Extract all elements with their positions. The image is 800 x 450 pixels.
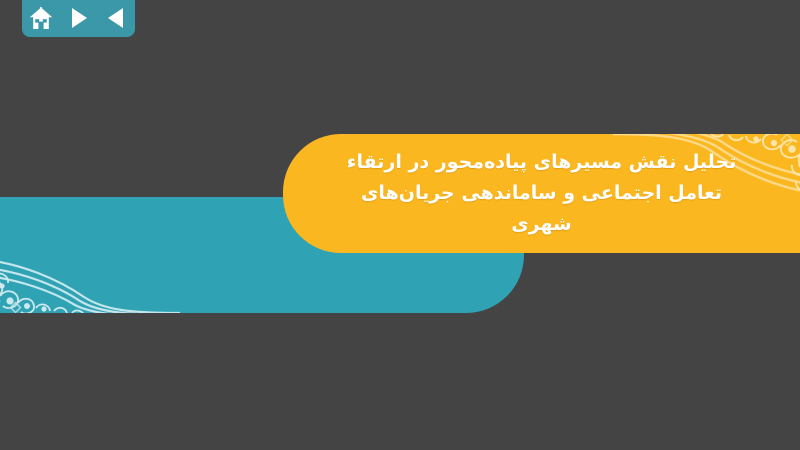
- back-triangle-icon: [106, 7, 126, 29]
- slide-canvas: تحلیل نقش مسیرهای پیاده‌محور در ارتقاء ت…: [0, 0, 800, 450]
- navigation-toolbar: [22, 0, 135, 37]
- home-icon: [29, 7, 53, 30]
- home-button[interactable]: [27, 5, 55, 31]
- arabesque-ornament-teal: [0, 197, 180, 313]
- next-slide-button[interactable]: [65, 5, 93, 31]
- slide-title: تحلیل نقش مسیرهای پیاده‌محور در ارتقاء ت…: [283, 134, 800, 253]
- forward-triangle-icon: [69, 7, 89, 29]
- title-line-3: شهری: [511, 209, 571, 240]
- previous-slide-button[interactable]: [102, 5, 130, 31]
- title-line-1: تحلیل نقش مسیرهای پیاده‌محور در ارتقاء: [347, 147, 737, 178]
- title-line-2: تعامل اجتماعی و ساماندهی جریان‌های: [361, 178, 722, 209]
